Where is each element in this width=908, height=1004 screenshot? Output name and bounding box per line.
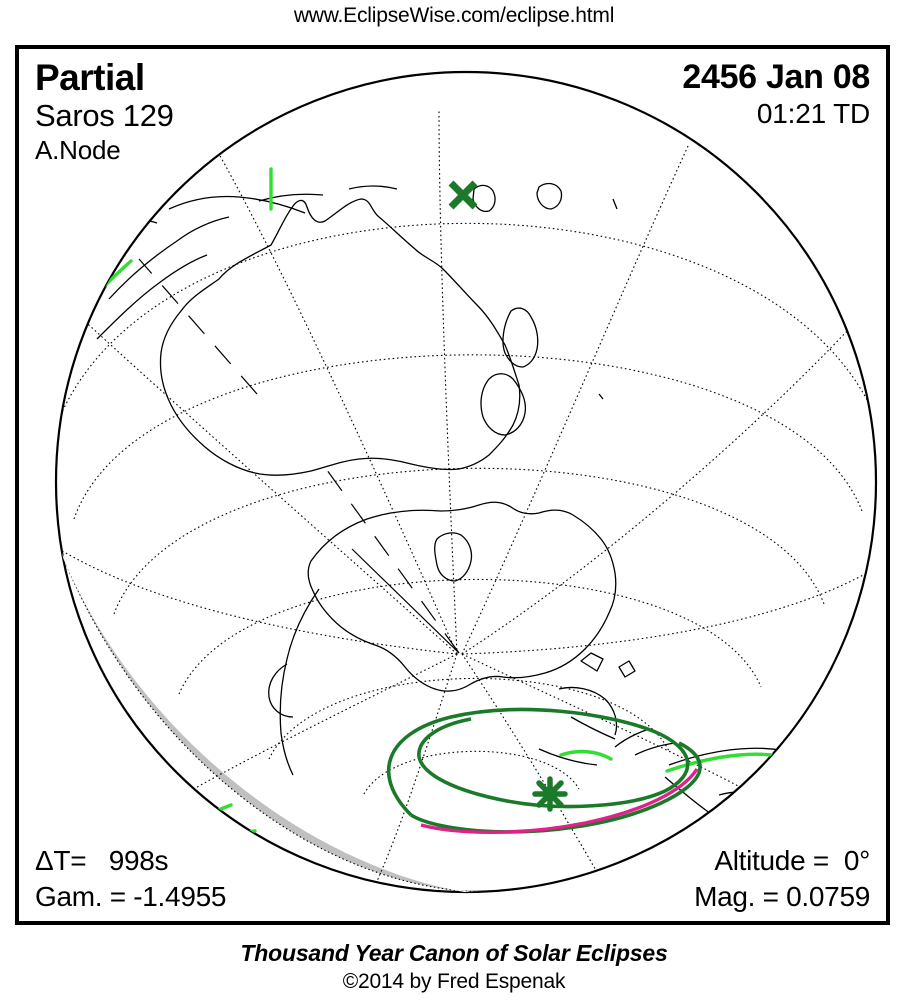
footer-right-block: Altitude = 0° Mag. = 0.0759 xyxy=(694,843,870,915)
eclipse-globe-svg xyxy=(19,49,886,921)
eclipse-date-label: 2456 Jan 08 xyxy=(682,57,870,97)
footer-left-block: ΔT= 998s Gam. = -1.4955 xyxy=(35,843,226,915)
gamma-value: Gam. = -1.4955 xyxy=(35,879,226,915)
node-label: A.Node xyxy=(35,134,174,166)
canon-title: Thousand Year Canon of Solar Eclipses xyxy=(0,940,908,967)
eclipse-map-frame: Partial Saros 129 A.Node 2456 Jan 08 01:… xyxy=(15,45,890,925)
saros-label: Saros 129 xyxy=(35,98,174,134)
site-url: www.EclipseWise.com/eclipse.html xyxy=(0,4,908,28)
magnitude-value: Mag. = 0.0759 xyxy=(694,879,870,915)
globe-container xyxy=(19,49,886,921)
eclipse-time-label: 01:21 TD xyxy=(682,97,870,131)
greatest-eclipse-asterisk xyxy=(535,779,565,809)
header-right-block: 2456 Jan 08 01:21 TD xyxy=(682,57,870,131)
altitude-value: Altitude = 0° xyxy=(694,843,870,879)
eclipse-type-label: Partial xyxy=(35,57,174,98)
delta-t-value: ΔT= 998s xyxy=(35,843,226,879)
copyright-credit: ©2014 by Fred Espenak xyxy=(0,970,908,994)
header-left-block: Partial Saros 129 A.Node xyxy=(35,57,174,166)
